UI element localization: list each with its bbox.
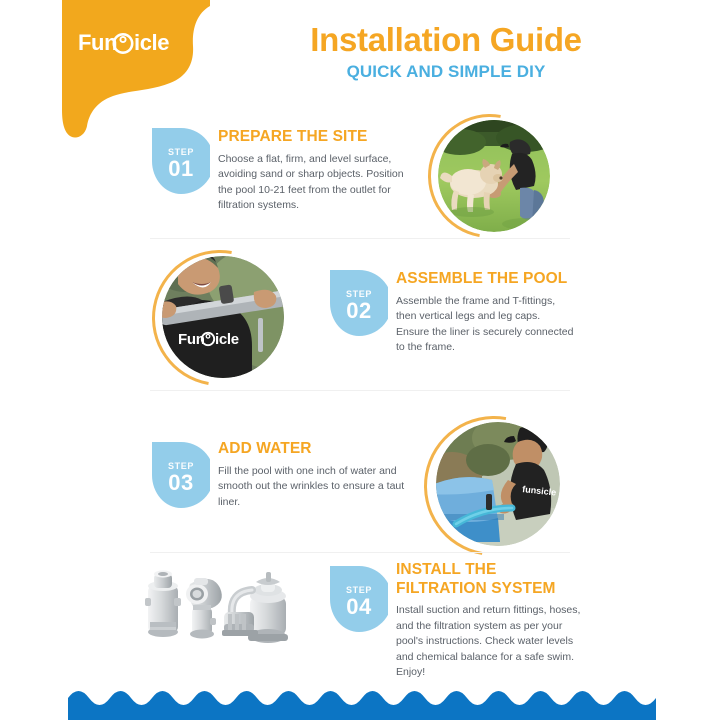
- person-holding-pool-frame-photo: Fun icle: [162, 256, 284, 378]
- filter-pumps-product-photo: [140, 562, 320, 652]
- step-body-2: Assemble the frame and T-fittings, then …: [396, 294, 574, 356]
- step-heading-4: INSTALL THE FILTRATION SYSTEM: [396, 561, 582, 598]
- step-badge-2: STEP 02: [330, 270, 388, 336]
- step-photo-1: [428, 114, 552, 238]
- step-heading-1: PREPARE THE SITE: [218, 128, 408, 147]
- funsicle-logo-icon: Fun icle: [78, 28, 202, 58]
- step-badge-1: STEP 01: [152, 128, 210, 194]
- step-body-3: Fill the pool with one inch of water and…: [218, 464, 408, 511]
- step-badge-4: STEP 04: [330, 566, 388, 632]
- section-divider-1: [150, 238, 570, 239]
- step-heading-2: ASSEMBLE THE POOL: [396, 270, 574, 289]
- svg-text:Fun: Fun: [178, 331, 205, 348]
- step-content-1: PREPARE THE SITE Choose a flat, firm, an…: [218, 128, 408, 214]
- page-title: Installation Guide: [196, 22, 696, 59]
- scalloped-wave-band-icon: [68, 684, 656, 720]
- step-row-4: STEP 04 INSTALL THE FILTRATION SYSTEM In…: [0, 552, 720, 702]
- step-photo-2: Fun icle: [152, 250, 288, 386]
- step-photo-3: funsicle: [424, 416, 564, 556]
- step-badge-3: STEP 03: [152, 442, 210, 508]
- step-heading-3: ADD WATER: [218, 440, 408, 459]
- step-badge-number-2: 02: [346, 299, 371, 322]
- step-row-2: Fun icle STEP 02 ASSEM: [0, 248, 720, 398]
- step-body-4: Install suction and return fittings, hos…: [396, 603, 582, 681]
- header-title-block: Installation Guide QUICK AND SIMPLE DIY: [196, 22, 696, 82]
- step-body-1: Choose a flat, firm, and level surface, …: [218, 152, 408, 214]
- step-badge-number-4: 04: [346, 595, 371, 618]
- installation-guide-infographic: Fun icle Installation Guide QUICK AND SI…: [0, 0, 720, 720]
- step-row-3: STEP 03 ADD WATER Fill the pool with one…: [0, 412, 720, 562]
- section-divider-2: [150, 390, 570, 391]
- page-subtitle: QUICK AND SIMPLE DIY: [196, 62, 696, 82]
- svg-text:icle: icle: [215, 331, 239, 348]
- step-badge-number-1: 01: [168, 157, 193, 180]
- step-content-3: ADD WATER Fill the pool with one inch of…: [218, 440, 408, 510]
- step-badge-word-2: STEP: [346, 290, 372, 299]
- step-badge-word-1: STEP: [168, 148, 194, 157]
- man-and-dog-on-lawn-photo: [438, 120, 550, 232]
- svg-text:icle: icle: [134, 30, 169, 55]
- step-content-2: ASSEMBLE THE POOL Assemble the frame and…: [396, 270, 574, 356]
- man-filling-pool-with-hose-photo: funsicle: [436, 422, 560, 546]
- step-row-1: STEP 01 PREPARE THE SITE Choose a flat, …: [0, 110, 720, 260]
- svg-text:Fun: Fun: [78, 30, 117, 55]
- step-badge-number-3: 03: [168, 471, 193, 494]
- step-content-4: INSTALL THE FILTRATION SYSTEM Install su…: [396, 561, 582, 681]
- step-badge-word-4: STEP: [346, 586, 372, 595]
- step-badge-word-3: STEP: [168, 462, 194, 471]
